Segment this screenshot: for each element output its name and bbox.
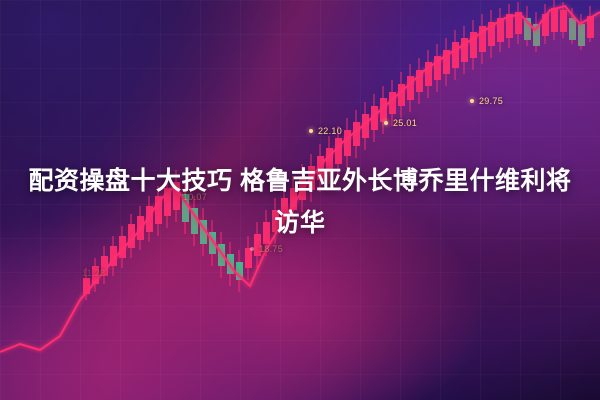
headline: 配资操盘十大技巧 格鲁吉亚外长博乔里什维利将 访华 xyxy=(0,160,600,244)
data-label-2210: 22.10 xyxy=(318,126,342,136)
headline-line-1: 配资操盘十大技巧 格鲁吉亚外长博乔里什维利将 xyxy=(29,167,572,195)
headline-line-2: 访华 xyxy=(0,202,600,244)
data-label-1875: 18.75 xyxy=(259,244,283,254)
data-label-2975: 29.75 xyxy=(479,96,503,106)
data-label-1128: 11.28 xyxy=(82,268,105,278)
promo-image: 29.75 25.01 22.10 18.75 10.07 11.28 配资操盘… xyxy=(0,0,600,400)
data-label-2501: 25.01 xyxy=(393,118,417,128)
